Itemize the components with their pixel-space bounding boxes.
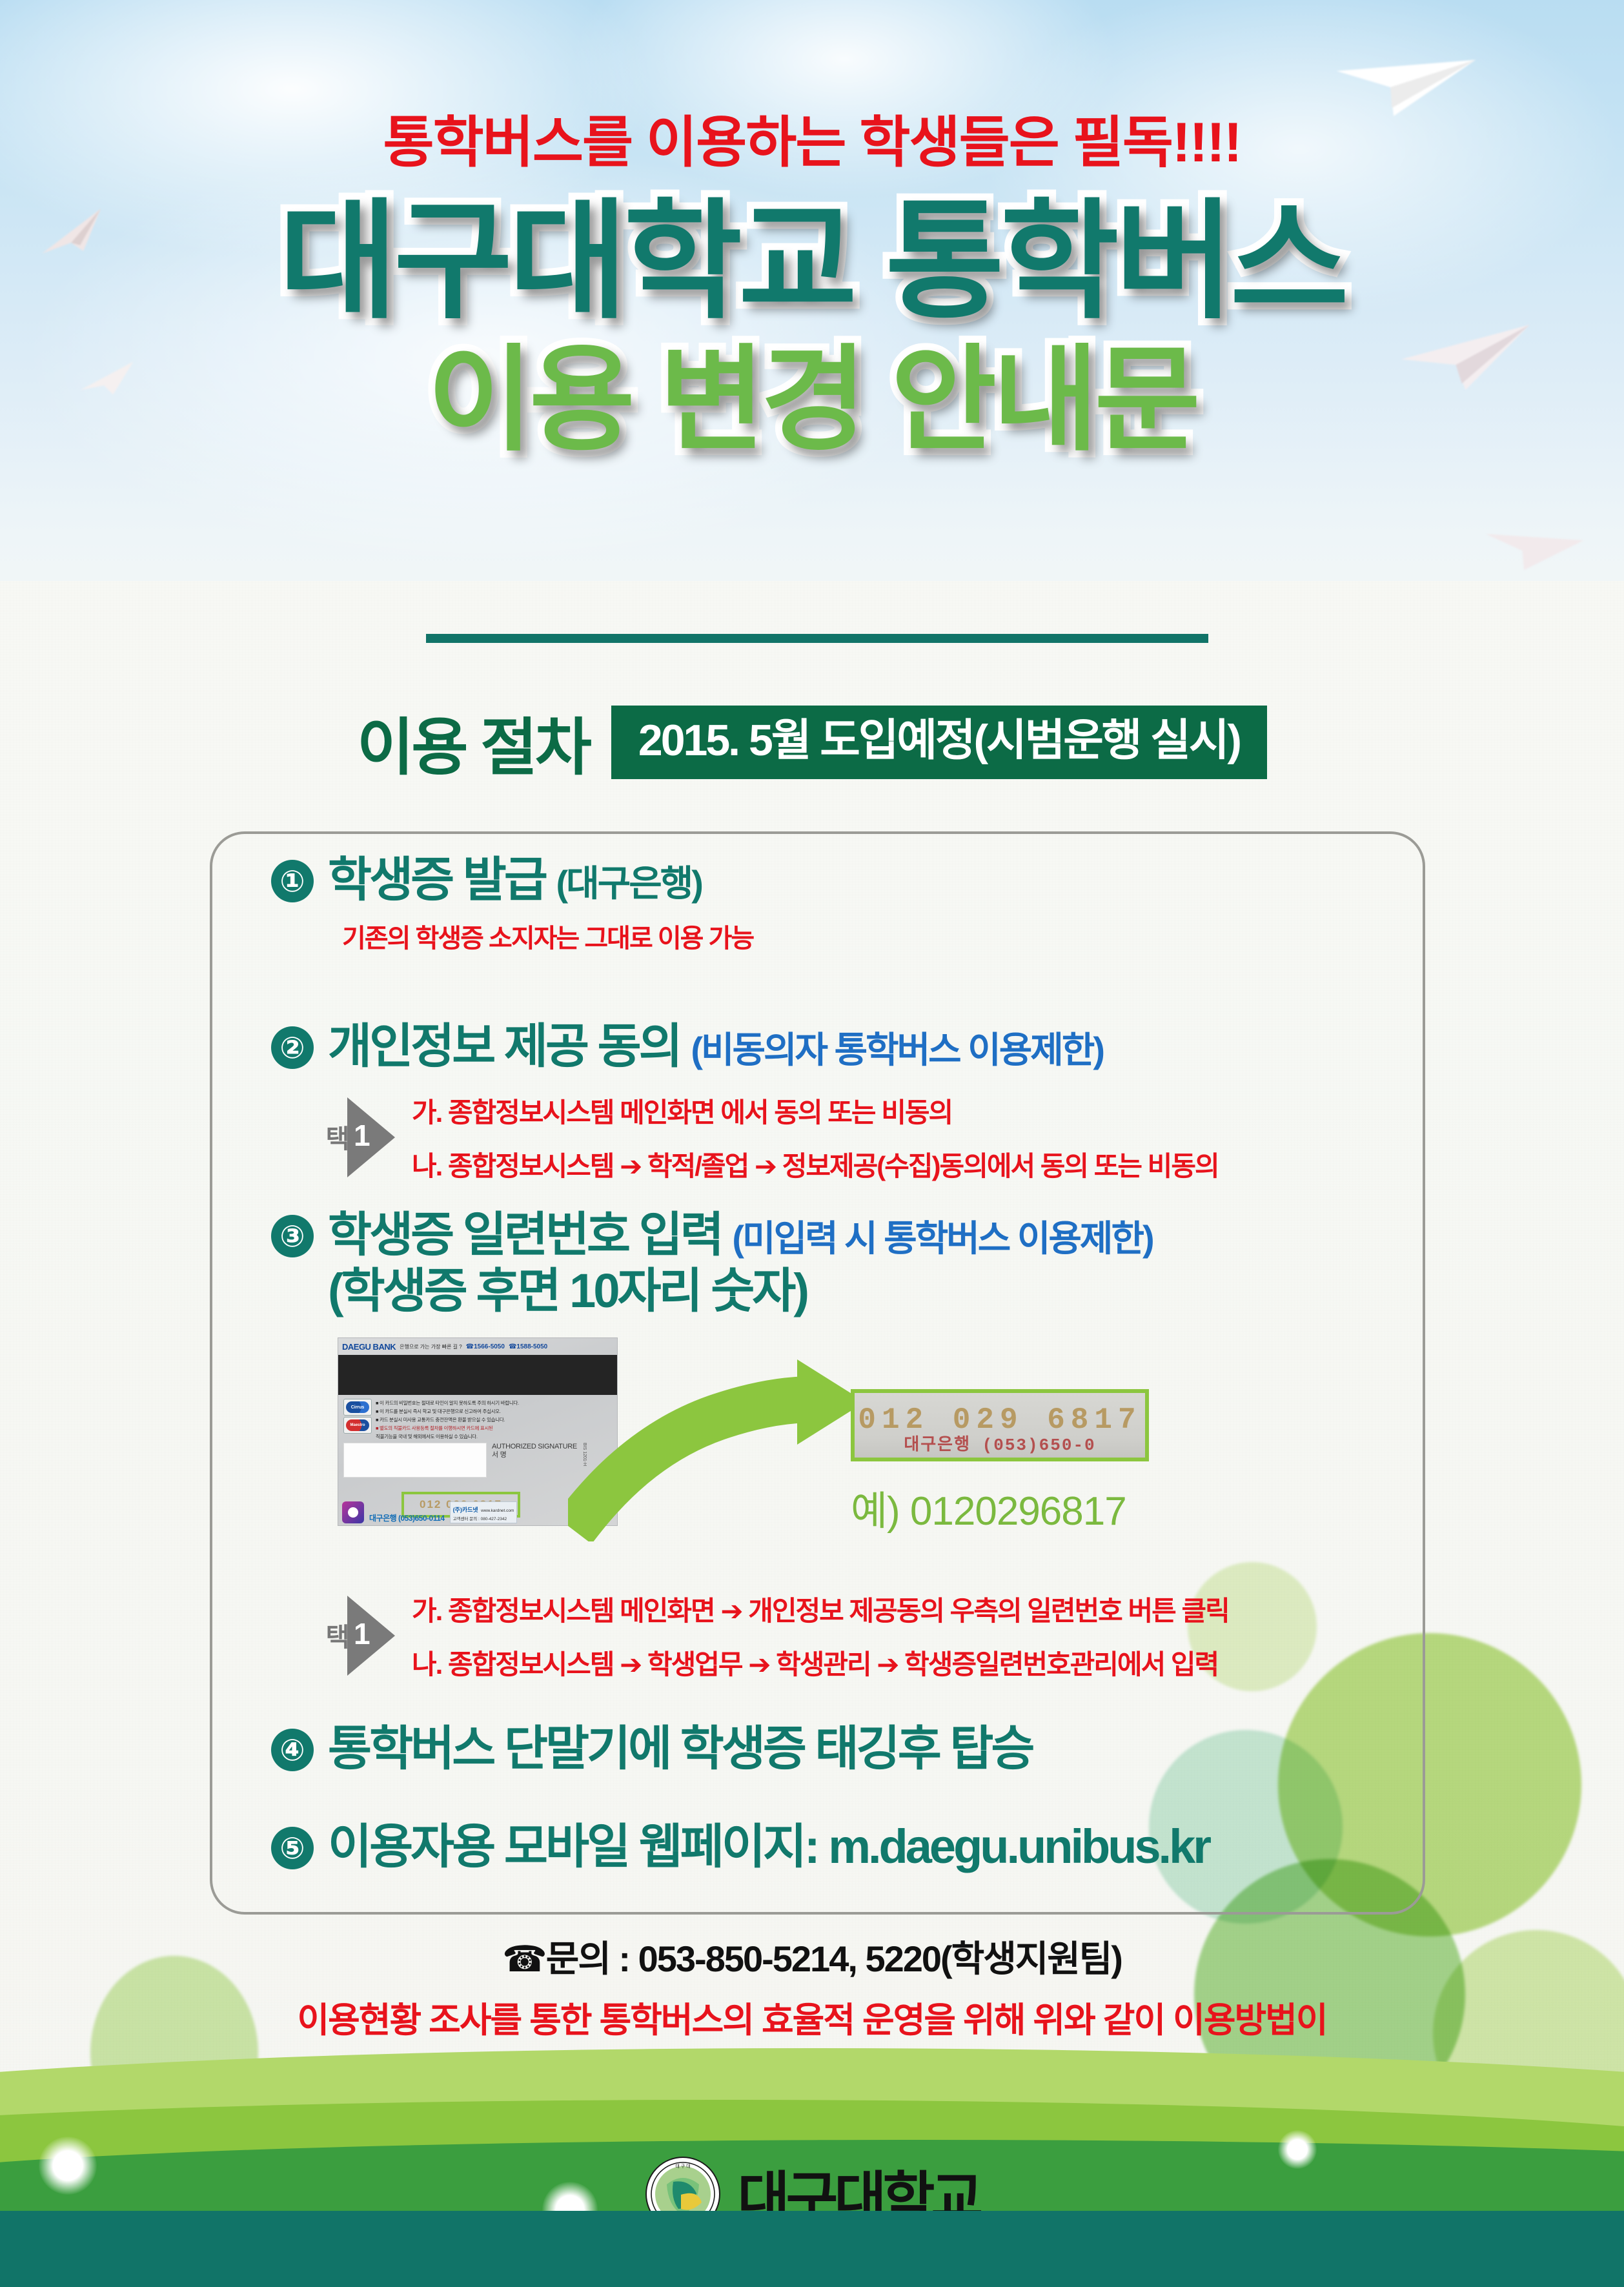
choose-line: 나. 종합정보시스템 ➔ 학생업무 ➔ 학생관리 ➔ 학생증일련번호관리에서 입… [412, 1643, 1229, 1682]
svg-text:대 구 대: 대 구 대 [675, 2164, 690, 2169]
signature-label-en: AUTHORIZED SIGNATURE [492, 1443, 577, 1451]
poster-title: 대구대학교 통학버스 이용 변경 안내문 [0, 194, 1624, 462]
card-bank-line: 대구은행 (053)650-0114 [369, 1512, 445, 1523]
section-header: 이용 절차 2015. 5월 도입예정(시범운행 실시) [0, 697, 1624, 787]
section-badge: 2015. 5월 도입예정(시범운행 실시) [611, 706, 1267, 779]
signature-strip [343, 1443, 487, 1478]
step-number: ③ [271, 1215, 314, 1257]
step-note: (비동의자 통학버스 이용제한) [691, 1030, 1103, 1070]
choose-one-group-2: 택 1 가. 종합정보시스템 메인화면 ➔ 개인정보 제공동의 우측의 일련번호… [323, 1589, 1229, 1682]
step-title: 통학버스 단말기에 학생증 태깅후 탑승 [328, 1722, 1033, 1776]
step-title: 개인정보 제공 동의 (비동의자 통학버스 이용제한) [328, 1020, 1103, 1073]
card-bank-name: DAEGU BANK [342, 1342, 396, 1352]
title-divider [426, 634, 1208, 643]
cirrus-logo-icon [343, 1399, 372, 1416]
step-title-text: 학생증 일련번호 입력 [328, 1208, 722, 1261]
step-4: ④ 통학버스 단말기에 학생증 태깅후 탑승 [271, 1722, 1033, 1776]
choose-number: 1 [354, 1616, 370, 1651]
step-title: 학생증 일련번호 입력 (미입력 시 통학버스 이용제한) [328, 1208, 1153, 1262]
step-title: 학생증 발급 (대구은행) [328, 853, 753, 907]
maestro-logo-icon [343, 1417, 372, 1434]
step-title-secondary: (학생증 후면 10자리 숫자) [328, 1265, 1153, 1318]
step-5: ⑤ 이용자용 모바일 웹페이지: m.daegu.unibus.kr [271, 1820, 1209, 1874]
choose-label: 택 [323, 1125, 347, 1150]
kardnet-tel: 고객센터 문의 : 080-427-2342 [453, 1515, 514, 1521]
step-number: ⑤ [271, 1827, 314, 1869]
title-line-2: 이용 변경 안내문 [0, 340, 1624, 462]
poster-root: 통학버스를 이용하는 학생들은 필독!!!! 대구대학교 통학버스 이용 변경 … [0, 0, 1624, 2287]
step-title-text: 개인정보 제공 동의 [328, 1019, 680, 1073]
step-number: ① [271, 860, 314, 902]
serial-example-text: 예) 0120296817 [851, 1478, 1126, 1536]
choose-line: 가. 종합정보시스템 메인화면 에서 동의 또는 비동의 [412, 1091, 1219, 1130]
choose-one-group-1: 택 1 가. 종합정보시스템 메인화면 에서 동의 또는 비동의 나. 종합정보… [323, 1091, 1219, 1184]
card-tel-1: ☎1566-5050 [466, 1343, 505, 1350]
kardnet-block: (주)카드넷 www.kardnet.com 고객센터 문의 : 080-427… [450, 1501, 518, 1523]
signature-label-kr: 서 명 [492, 1451, 577, 1459]
step-subnote: 기존의 학생증 소지자는 그대로 이용 가능 [342, 917, 753, 955]
serial-zoom-undertext: 대구은행 (053)650-0 [855, 1431, 1145, 1455]
kardnet-url: www.kardnet.com [481, 1509, 514, 1513]
transit-card-icon [342, 1501, 364, 1523]
callout-arrow-icon [568, 1348, 871, 1545]
kardnet-name: (주)카드넷 [453, 1507, 478, 1513]
step-title-text: 학생증 발급 [328, 853, 545, 906]
step-number: ④ [271, 1729, 314, 1771]
card-tagline: 은행으로 가는 가장 빠른 길 ? [400, 1343, 462, 1350]
choose-line: 나. 종합정보시스템 ➔ 학적/졸업 ➔ 정보제공(수집)동의에서 동의 또는 … [412, 1144, 1219, 1184]
choose-lines: 가. 종합정보시스템 메인화면 ➔ 개인정보 제공동의 우측의 일련번호 버튼 … [412, 1589, 1229, 1682]
choose-number: 1 [354, 1118, 370, 1153]
choose-lines: 가. 종합정보시스템 메인화면 에서 동의 또는 비동의 나. 종합정보시스템 … [412, 1091, 1219, 1184]
title-line-1: 대구대학교 통학버스 [0, 194, 1624, 330]
choose-arrow-icon: 1 [347, 1097, 395, 1177]
footer-notice-line: 이용현황 조사를 통한 통학버스의 효율적 운영을 위해 위와 같이 이용방법이 [0, 1995, 1624, 2047]
step-3: ③ 학생증 일련번호 입력 (미입력 시 통학버스 이용제한) (학생증 후면 … [271, 1208, 1153, 1318]
step-note: (대구은행) [556, 863, 702, 904]
step-2: ② 개인정보 제공 동의 (비동의자 통학버스 이용제한) [271, 1020, 1103, 1073]
kicker-text: 통학버스를 이용하는 학생들은 필독!!!! [0, 97, 1624, 178]
step-1: ① 학생증 발급 (대구은행) 기존의 학생증 소지자는 그대로 이용 가능 [271, 853, 753, 955]
card-bottom-row: 대구은행 (053)650-0114 (주)카드넷 www.kardnet.co… [342, 1501, 517, 1523]
choose-arrow-icon: 1 [347, 1596, 395, 1676]
section-label: 이용 절차 [357, 697, 589, 787]
footer-bar [0, 2211, 1624, 2287]
choose-line: 가. 종합정보시스템 메인화면 ➔ 개인정보 제공동의 우측의 일련번호 버튼 … [412, 1589, 1229, 1629]
signature-label: AUTHORIZED SIGNATURE 서 명 [492, 1443, 577, 1459]
step-title: 이용자용 모바일 웹페이지: m.daegu.unibus.kr [328, 1820, 1209, 1874]
contact-line: ☎문의 : 053-850-5214, 5220(학생지원팀) [0, 1930, 1624, 1982]
choose-label: 택 [323, 1623, 347, 1648]
card-tel-2: ☎1588-5050 [509, 1343, 547, 1350]
card-scheme-logos [343, 1399, 372, 1440]
serial-zoom-callout: 012 029 6817 대구은행 (053)650-0 [851, 1389, 1149, 1461]
step-number: ② [271, 1026, 314, 1069]
step-note: (미입력 시 통학버스 이용제한) [732, 1218, 1152, 1259]
